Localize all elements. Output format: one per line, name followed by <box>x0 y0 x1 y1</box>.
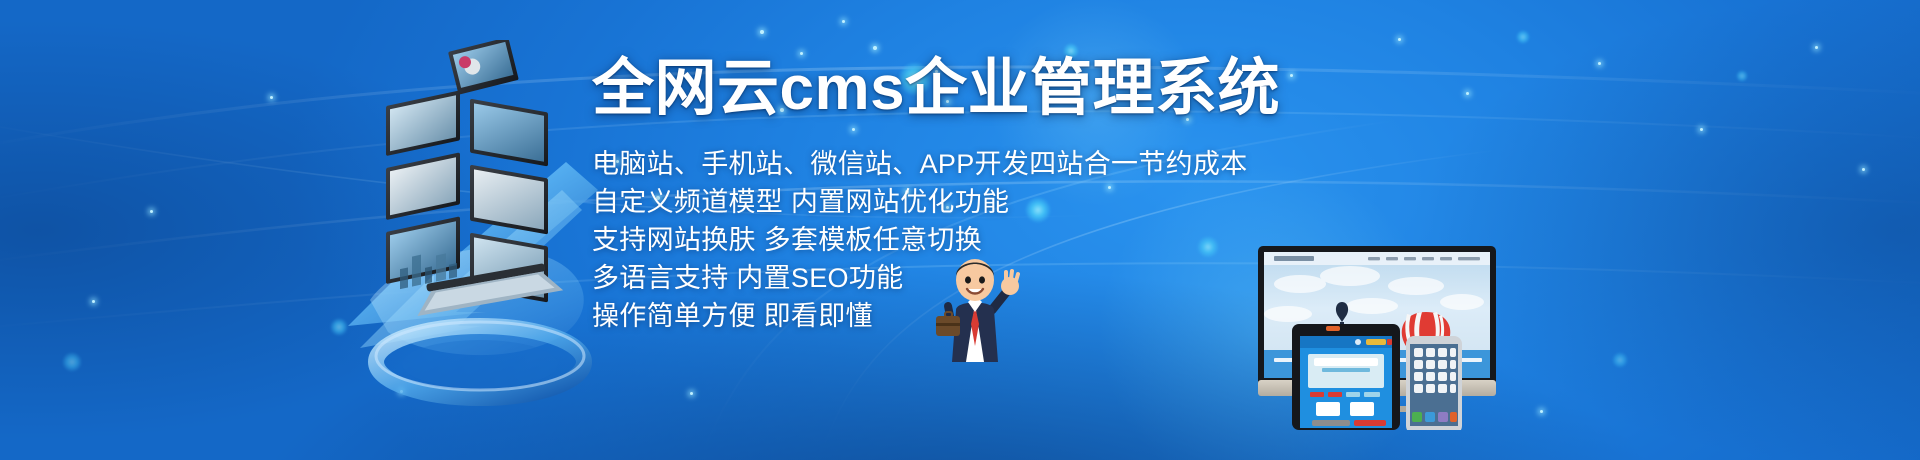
promo-banner: 全网云cms企业管理系统 电脑站、手机站、微信站、APP开发四站合一节约成本 自… <box>0 0 1920 460</box>
feature-list: 电脑站、手机站、微信站、APP开发四站合一节约成本 自定义频道模型 内置网站优化… <box>592 145 1292 335</box>
feature-item: 多语言支持 内置SEO功能 <box>592 259 1292 297</box>
banner-copy: 全网云cms企业管理系统 电脑站、手机站、微信站、APP开发四站合一节约成本 自… <box>592 54 1292 335</box>
tablet <box>1292 324 1400 430</box>
page-title: 全网云cms企业管理系统 <box>592 54 1292 123</box>
feature-item: 自定义频道模型 内置网站优化功能 <box>592 183 1292 221</box>
feature-item: 电脑站、手机站、微信站、APP开发四站合一节约成本 <box>592 145 1292 183</box>
monitor-cube-illustration <box>330 40 630 370</box>
feature-item: 操作简单方便 即看即懂 <box>592 297 1292 335</box>
feature-item: 支持网站换肤 多套模板任意切换 <box>592 221 1292 259</box>
smartphone <box>1406 336 1462 430</box>
